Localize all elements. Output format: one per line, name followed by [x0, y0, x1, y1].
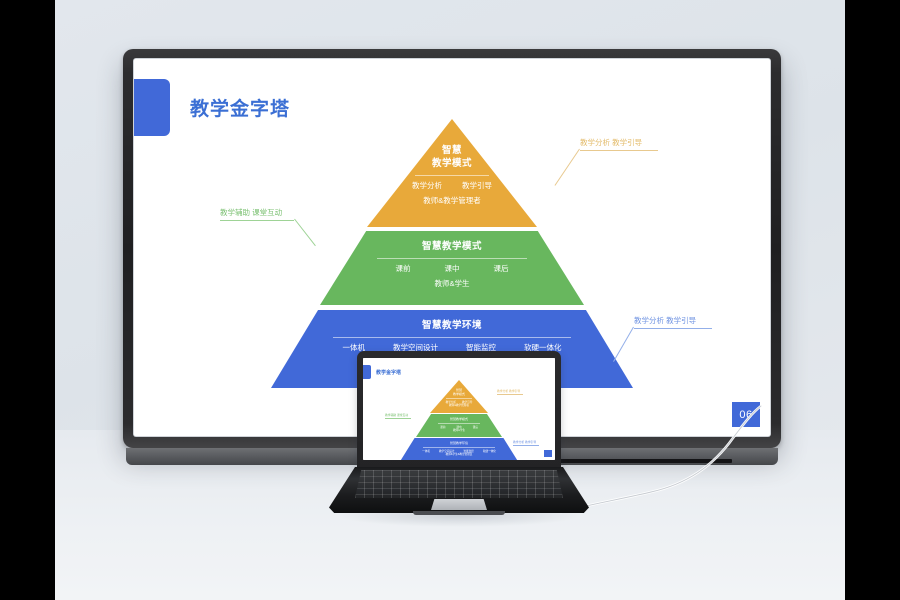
mini-tier-3-divider [423, 447, 495, 448]
tier-1-item-1: 教学引导 [462, 181, 492, 192]
tier-3-callout: 教学分析 教学引导 [634, 315, 712, 329]
tier-1-actors: 教师&教学管理者 [423, 195, 481, 206]
laptop-status-indicator [457, 455, 461, 458]
mini-pyramid-tier-1: 智慧 教学模式 教学分析 教学引导 教师&教学管理者 [430, 380, 488, 413]
mini-tier-2-heading: 智慧教学模式 [450, 418, 468, 422]
tier-1-heading-line1: 智慧 [442, 145, 462, 158]
tier-2-callout-leader [294, 219, 316, 246]
mini-title-accent-tab [363, 365, 371, 379]
mini-tier-3-callout-label: 教学分析 教学引导 [513, 440, 536, 444]
hdmi-cable [555, 400, 785, 540]
mini-tier-3-callout-underline [513, 445, 539, 446]
tier-1-heading-line2: 教学模式 [432, 158, 472, 171]
tier-2-callout: 教学辅助 课堂互动 [220, 207, 294, 221]
laptop-slide-mirror: 教学金字塔 智慧 教学模式 教学分析 [363, 358, 555, 460]
tier-2-item-0: 课前 [396, 264, 411, 275]
mini-tier-3-item-0: 一体机 [422, 450, 430, 453]
tier-1-callout-leader [554, 149, 579, 186]
tier-3-heading: 智慧教学环境 [422, 320, 482, 333]
laptop-screen[interactable]: 教学金字塔 智慧 教学模式 教学分析 [363, 358, 555, 460]
laptop-keyboard[interactable] [355, 470, 563, 498]
mini-page-title: 教学金字塔 [376, 369, 401, 376]
pyramid-tier-2[interactable]: 智慧教学模式 课前 课中 课后 教师&学生 [320, 231, 584, 305]
mini-tier-1-callout-label: 教学分析 教学引导 [497, 389, 520, 393]
page-title: 教学金字塔 [190, 94, 290, 121]
tier-2-actors: 教师&学生 [434, 278, 469, 289]
tier-1-divider [415, 175, 489, 176]
mini-tier-1-callout: 教学分析 教学引导 [497, 389, 523, 395]
tier-2-items: 课前 课中 课后 [396, 264, 509, 275]
mini-tier-1-actors: 教师&教学管理者 [449, 404, 469, 407]
tier-3-callout-underline [634, 328, 712, 329]
tier-3-divider [333, 337, 571, 338]
tier-1-callout-label: 教学分析 教学引导 [580, 137, 658, 150]
mini-tier-2-item-0: 课前 [440, 426, 445, 429]
laptop-shadow [337, 513, 581, 527]
tier-2-heading: 智慧教学模式 [422, 241, 482, 254]
mini-pyramid-tier-2: 智慧教学模式 课前 课中 课后 教师&学生 [416, 414, 502, 437]
mini-tier-1-heading-line2: 教学模式 [453, 393, 465, 397]
tier-2-callout-underline [220, 220, 294, 221]
mini-tier-2-actors-row: 教师&学生 [453, 429, 465, 432]
tier-2-callout-label: 教学辅助 课堂互动 [220, 207, 294, 220]
screenshot-stage: 教学金字塔 智慧 教学模式 [0, 0, 900, 600]
tier-2-content: 智慧教学模式 课前 课中 课后 教师&学生 [320, 231, 584, 305]
tier-1-callout-underline [580, 150, 658, 151]
mini-tier-3-callout: 教学分析 教学引导 [513, 440, 539, 446]
tier-1-content: 智慧 教学模式 教学分析 教学引导 教师&教学管理者 [367, 119, 537, 227]
tier-1-callout: 教学分析 教学引导 [580, 137, 658, 151]
mini-tier-2-item-2: 课后 [473, 426, 478, 429]
tier-1-item-0: 教学分析 [412, 181, 442, 192]
tier-2-divider [377, 258, 527, 259]
laptop-lid: 教学金字塔 智慧 教学模式 教学分析 [357, 351, 561, 469]
mini-tier-3-item-3: 软硬一体化 [483, 450, 496, 453]
mini-title-block: 教学金字塔 [363, 365, 401, 379]
tier-1-items: 教学分析 教学引导 [412, 181, 492, 192]
mini-tier-1-callout-underline [497, 394, 523, 395]
mini-tier-1-content: 智慧 教学模式 教学分析 教学引导 教师&教学管理者 [430, 380, 488, 413]
tier-2-item-1: 课中 [445, 264, 460, 275]
laptop-front-lip [413, 511, 505, 515]
mini-pyramid-diagram: 智慧 教学模式 教学分析 教学引导 教师&教学管理者 [363, 380, 555, 460]
mini-tier-1-divider [446, 398, 472, 399]
product-photo: 教学金字塔 智慧 教学模式 [55, 0, 845, 600]
tier-2-item-2: 课后 [494, 264, 509, 275]
mini-tier-2-callout: 教学辅助 课堂互动 [385, 413, 411, 419]
mini-tier-3-heading: 智慧教学环境 [450, 442, 468, 446]
mini-tier-2-callout-label: 教学辅助 课堂互动 [385, 413, 408, 417]
laptop[interactable]: 教学金字塔 智慧 教学模式 教学分析 [329, 351, 589, 566]
mini-page-number-badge [544, 450, 552, 457]
laptop-trackpad[interactable] [431, 499, 487, 510]
pyramid-tier-1[interactable]: 智慧 教学模式 教学分析 教学引导 教师&教学管理者 [367, 119, 537, 227]
mini-tier-1-actors-row: 教师&教学管理者 [449, 404, 469, 407]
mini-tier-2-callout-underline [385, 418, 411, 419]
mini-tier-2-content: 智慧教学模式 课前 课中 课后 教师&学生 [416, 414, 502, 437]
mini-tier-2-actors: 教师&学生 [453, 429, 465, 432]
mini-tier-2-divider [438, 423, 480, 424]
tier-3-callout-label: 教学分析 教学引导 [634, 315, 712, 328]
